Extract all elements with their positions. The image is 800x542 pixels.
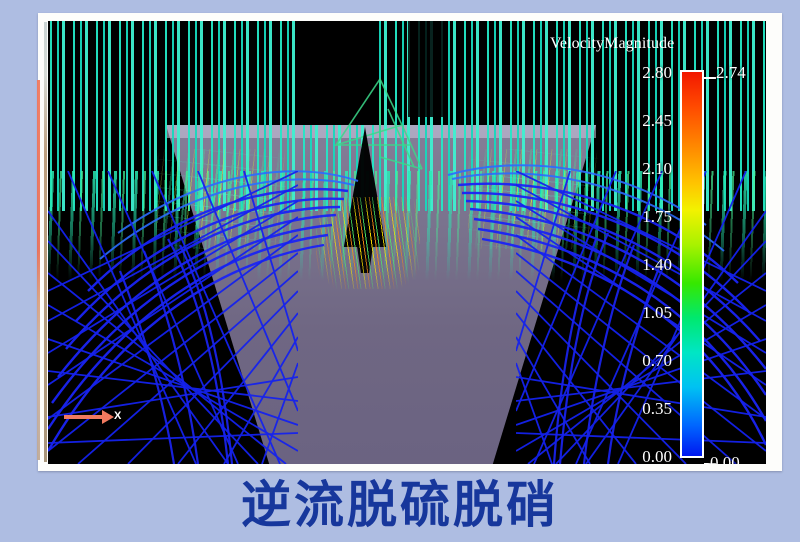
- legend-tick: 2.80: [642, 63, 672, 83]
- legend-tick: 1.75: [642, 207, 672, 227]
- velocity-color-legend: VelocityMagnitude 2.80 2.45 2.10 1.75 1.…: [538, 29, 758, 459]
- legend-tick: 2.10: [642, 159, 672, 179]
- legend-tick: 0.00: [642, 447, 672, 464]
- x-axis-arrow-icon: [62, 406, 114, 428]
- figure-caption: 逆流脱硫脱硝: [0, 474, 800, 536]
- legend-max-annotation: 2.74: [716, 63, 746, 83]
- legend-max-tick-mark: [704, 77, 716, 79]
- axis-orientation-widget: X: [62, 406, 132, 436]
- screenshot-root: X VelocityMagnitude 2.80 2.45 2.10 1.75 …: [0, 0, 800, 542]
- legend-colorbar[interactable]: [680, 70, 704, 458]
- frame-edge-strip-red: [37, 80, 40, 460]
- axis-label-x: X: [114, 410, 121, 422]
- frame-edge-strip-inner: [44, 22, 47, 462]
- legend-tick-list: 2.80 2.45 2.10 1.75 1.40 1.05 0.70 0.35 …: [590, 63, 672, 463]
- legend-min-annotation: 0.00: [710, 453, 740, 464]
- cfd-viewport[interactable]: X VelocityMagnitude 2.80 2.45 2.10 1.75 …: [48, 21, 766, 464]
- legend-tick: 2.45: [642, 111, 672, 131]
- legend-tick: 0.70: [642, 351, 672, 371]
- legend-title: VelocityMagnitude: [550, 35, 674, 53]
- legend-tick: 1.40: [642, 255, 672, 275]
- cfd-scene: X VelocityMagnitude 2.80 2.45 2.10 1.75 …: [48, 21, 766, 464]
- legend-tick: 1.05: [642, 303, 672, 323]
- legend-tick: 0.35: [642, 399, 672, 419]
